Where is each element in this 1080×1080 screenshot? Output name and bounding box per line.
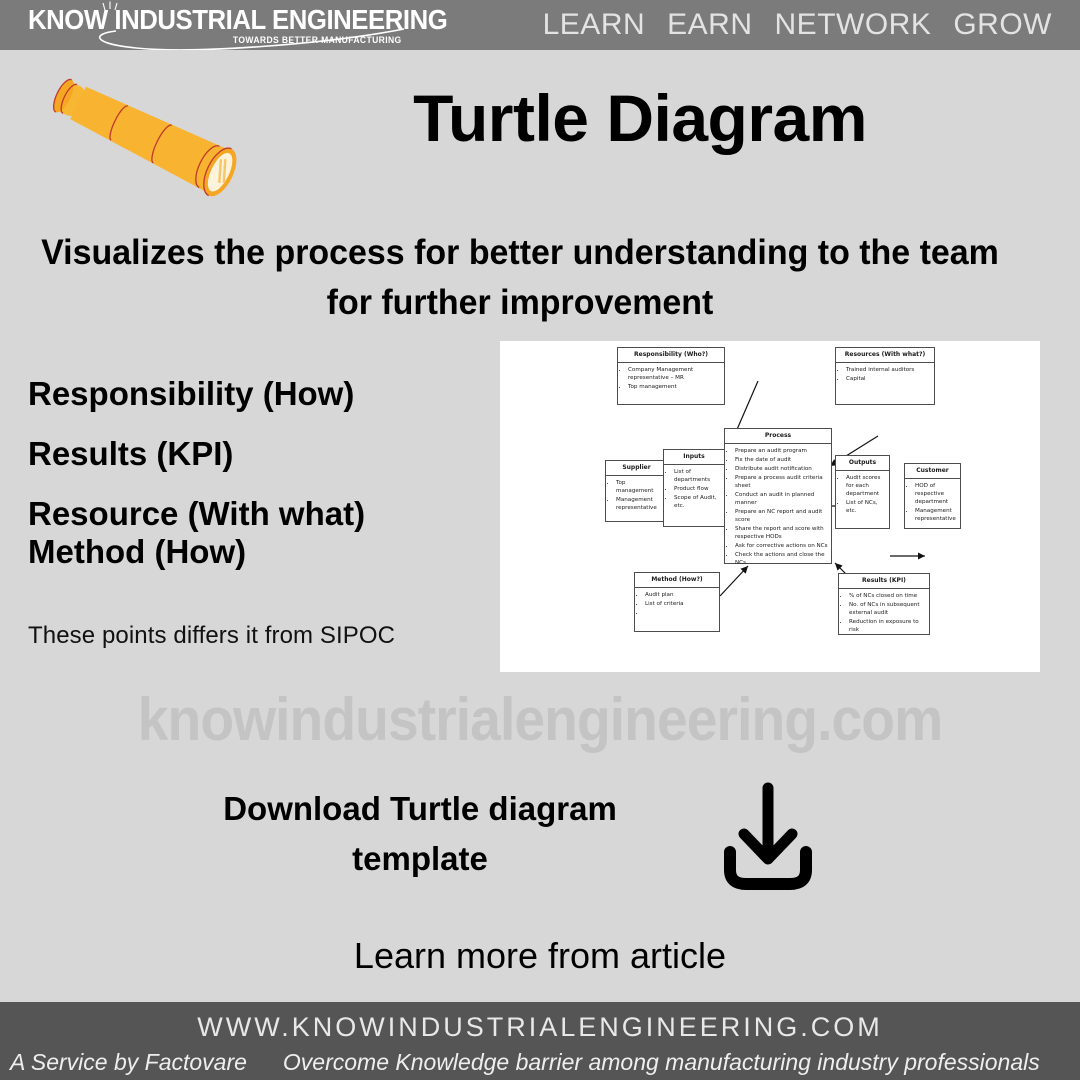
sipoc-note: These points differs it from SIPOC bbox=[28, 622, 395, 650]
nav-item-network[interactable]: NETWORK bbox=[775, 8, 932, 42]
page-title: Turtle Diagram bbox=[300, 80, 980, 156]
nav-item-grow[interactable]: GROW bbox=[953, 8, 1052, 42]
footer-taglines: A Service by Factovare Overcome Knowledg… bbox=[10, 1049, 1070, 1076]
footer-website-url[interactable]: WWW.KNOWINDUSTRIALENGINEERING.COM bbox=[0, 1012, 1080, 1043]
site-watermark: knowindustrialengineering.com bbox=[43, 685, 1037, 754]
list-item-responsibility: Responsibility (How) bbox=[28, 375, 478, 413]
nav-item-earn[interactable]: EARN bbox=[667, 8, 752, 42]
site-header: KNOW INDUSTRIAL ENGINEERING TOWARDS BETT… bbox=[0, 0, 1080, 50]
telescope-icon bbox=[30, 78, 270, 198]
turtle-diagram-image: Responsibility (Who?) Company Management… bbox=[500, 341, 1040, 672]
nav-item-learn[interactable]: LEARN bbox=[543, 8, 646, 42]
lightbulb-icon bbox=[102, 1, 118, 13]
learn-more-text[interactable]: Learn more from article bbox=[0, 935, 1080, 977]
list-item-method: Method (How) bbox=[28, 533, 478, 571]
diagram-box-method: Method (How?) Audit plan List of criteri… bbox=[634, 572, 720, 632]
diagram-box-resources: Resources (With what?) Trained internal … bbox=[835, 347, 935, 405]
download-label[interactable]: Download Turtle diagram template bbox=[190, 784, 650, 884]
list-item-results: Results (KPI) bbox=[28, 435, 478, 473]
download-icon[interactable] bbox=[718, 782, 818, 892]
list-item-resource: Resource (With what) bbox=[28, 495, 478, 533]
key-points-list: Responsibility (How) Results (KPI) Resou… bbox=[28, 375, 478, 593]
diagram-box-process: Process Prepare an audit program Fix the… bbox=[724, 428, 832, 564]
diagram-box-inputs: Inputs List of departments Product flow … bbox=[663, 449, 725, 527]
footer-tagline: Overcome Knowledge barrier among manufac… bbox=[283, 1049, 1070, 1076]
footer-service-by: A Service by Factovare bbox=[10, 1049, 247, 1076]
site-footer: WWW.KNOWINDUSTRIALENGINEERING.COM A Serv… bbox=[0, 1002, 1080, 1080]
diagram-box-outputs: Outputs Audit scores for each department… bbox=[835, 455, 890, 529]
diagram-box-results: Results (KPI) % of NCs closed on time No… bbox=[838, 573, 930, 635]
diagram-box-customer: Customer HOD of respective department Ma… bbox=[904, 463, 961, 529]
hero-subtitle: Visualizes the process for better unders… bbox=[35, 228, 1005, 328]
brand-logo[interactable]: KNOW INDUSTRIAL ENGINEERING TOWARDS BETT… bbox=[28, 2, 408, 48]
diagram-box-supplier: Supplier Top management Management repre… bbox=[605, 460, 668, 522]
logo-tagline: TOWARDS BETTER MANUFACTURING bbox=[233, 35, 402, 45]
primary-nav: LEARN EARN NETWORK GROW bbox=[543, 8, 1052, 42]
diagram-box-responsibility: Responsibility (Who?) Company Management… bbox=[617, 347, 725, 405]
